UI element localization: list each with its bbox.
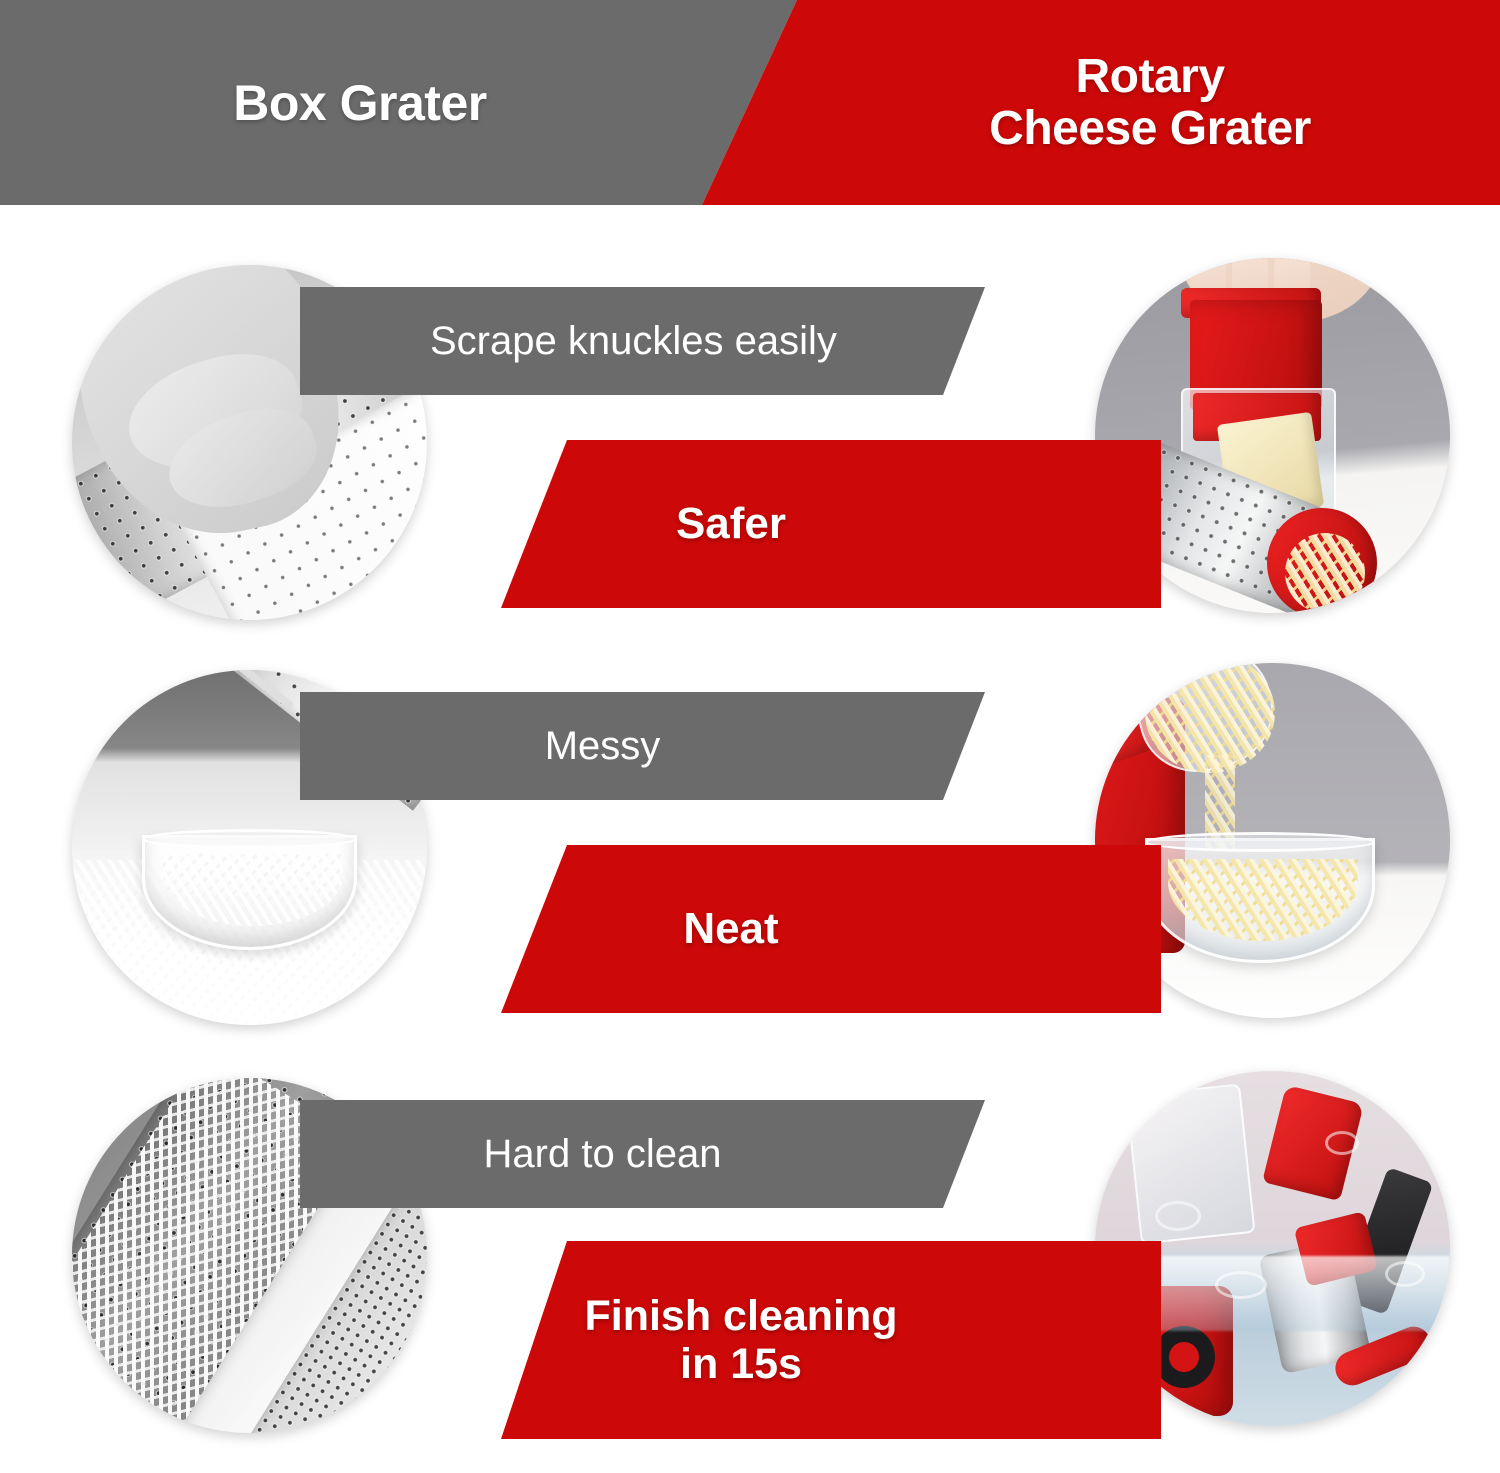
comparison-row-2: Messy Neat [0, 645, 1500, 1055]
positive-label-row-3-line1: Finish cleaning [585, 1292, 898, 1340]
positive-label-row-2: Neat [501, 845, 1161, 1013]
positive-label-row-3: Finish cleaning in 15s [501, 1241, 1161, 1439]
page-title-rotary-grater: Rotary Cheese Grater [800, 0, 1500, 205]
negative-label-row-3: Hard to clean [300, 1100, 985, 1208]
page-title-box-grater: Box Grater [0, 0, 760, 205]
header-banner: Box Grater Rotary Cheese Grater [0, 0, 1500, 205]
page-title-rotary-line1: Rotary [1075, 51, 1224, 103]
comparison-row-3: Hard to clean Finish cleaning in 15s [0, 1053, 1500, 1463]
comparison-row-1: Scrape knuckles easily Safer [0, 240, 1500, 650]
positive-label-row-3-line2: in 15s [680, 1340, 802, 1388]
page-title-rotary-line2: Cheese Grater [989, 103, 1311, 155]
positive-label-row-1: Safer [501, 440, 1161, 608]
negative-label-row-2: Messy [300, 692, 985, 800]
negative-label-row-1: Scrape knuckles easily [300, 287, 985, 395]
